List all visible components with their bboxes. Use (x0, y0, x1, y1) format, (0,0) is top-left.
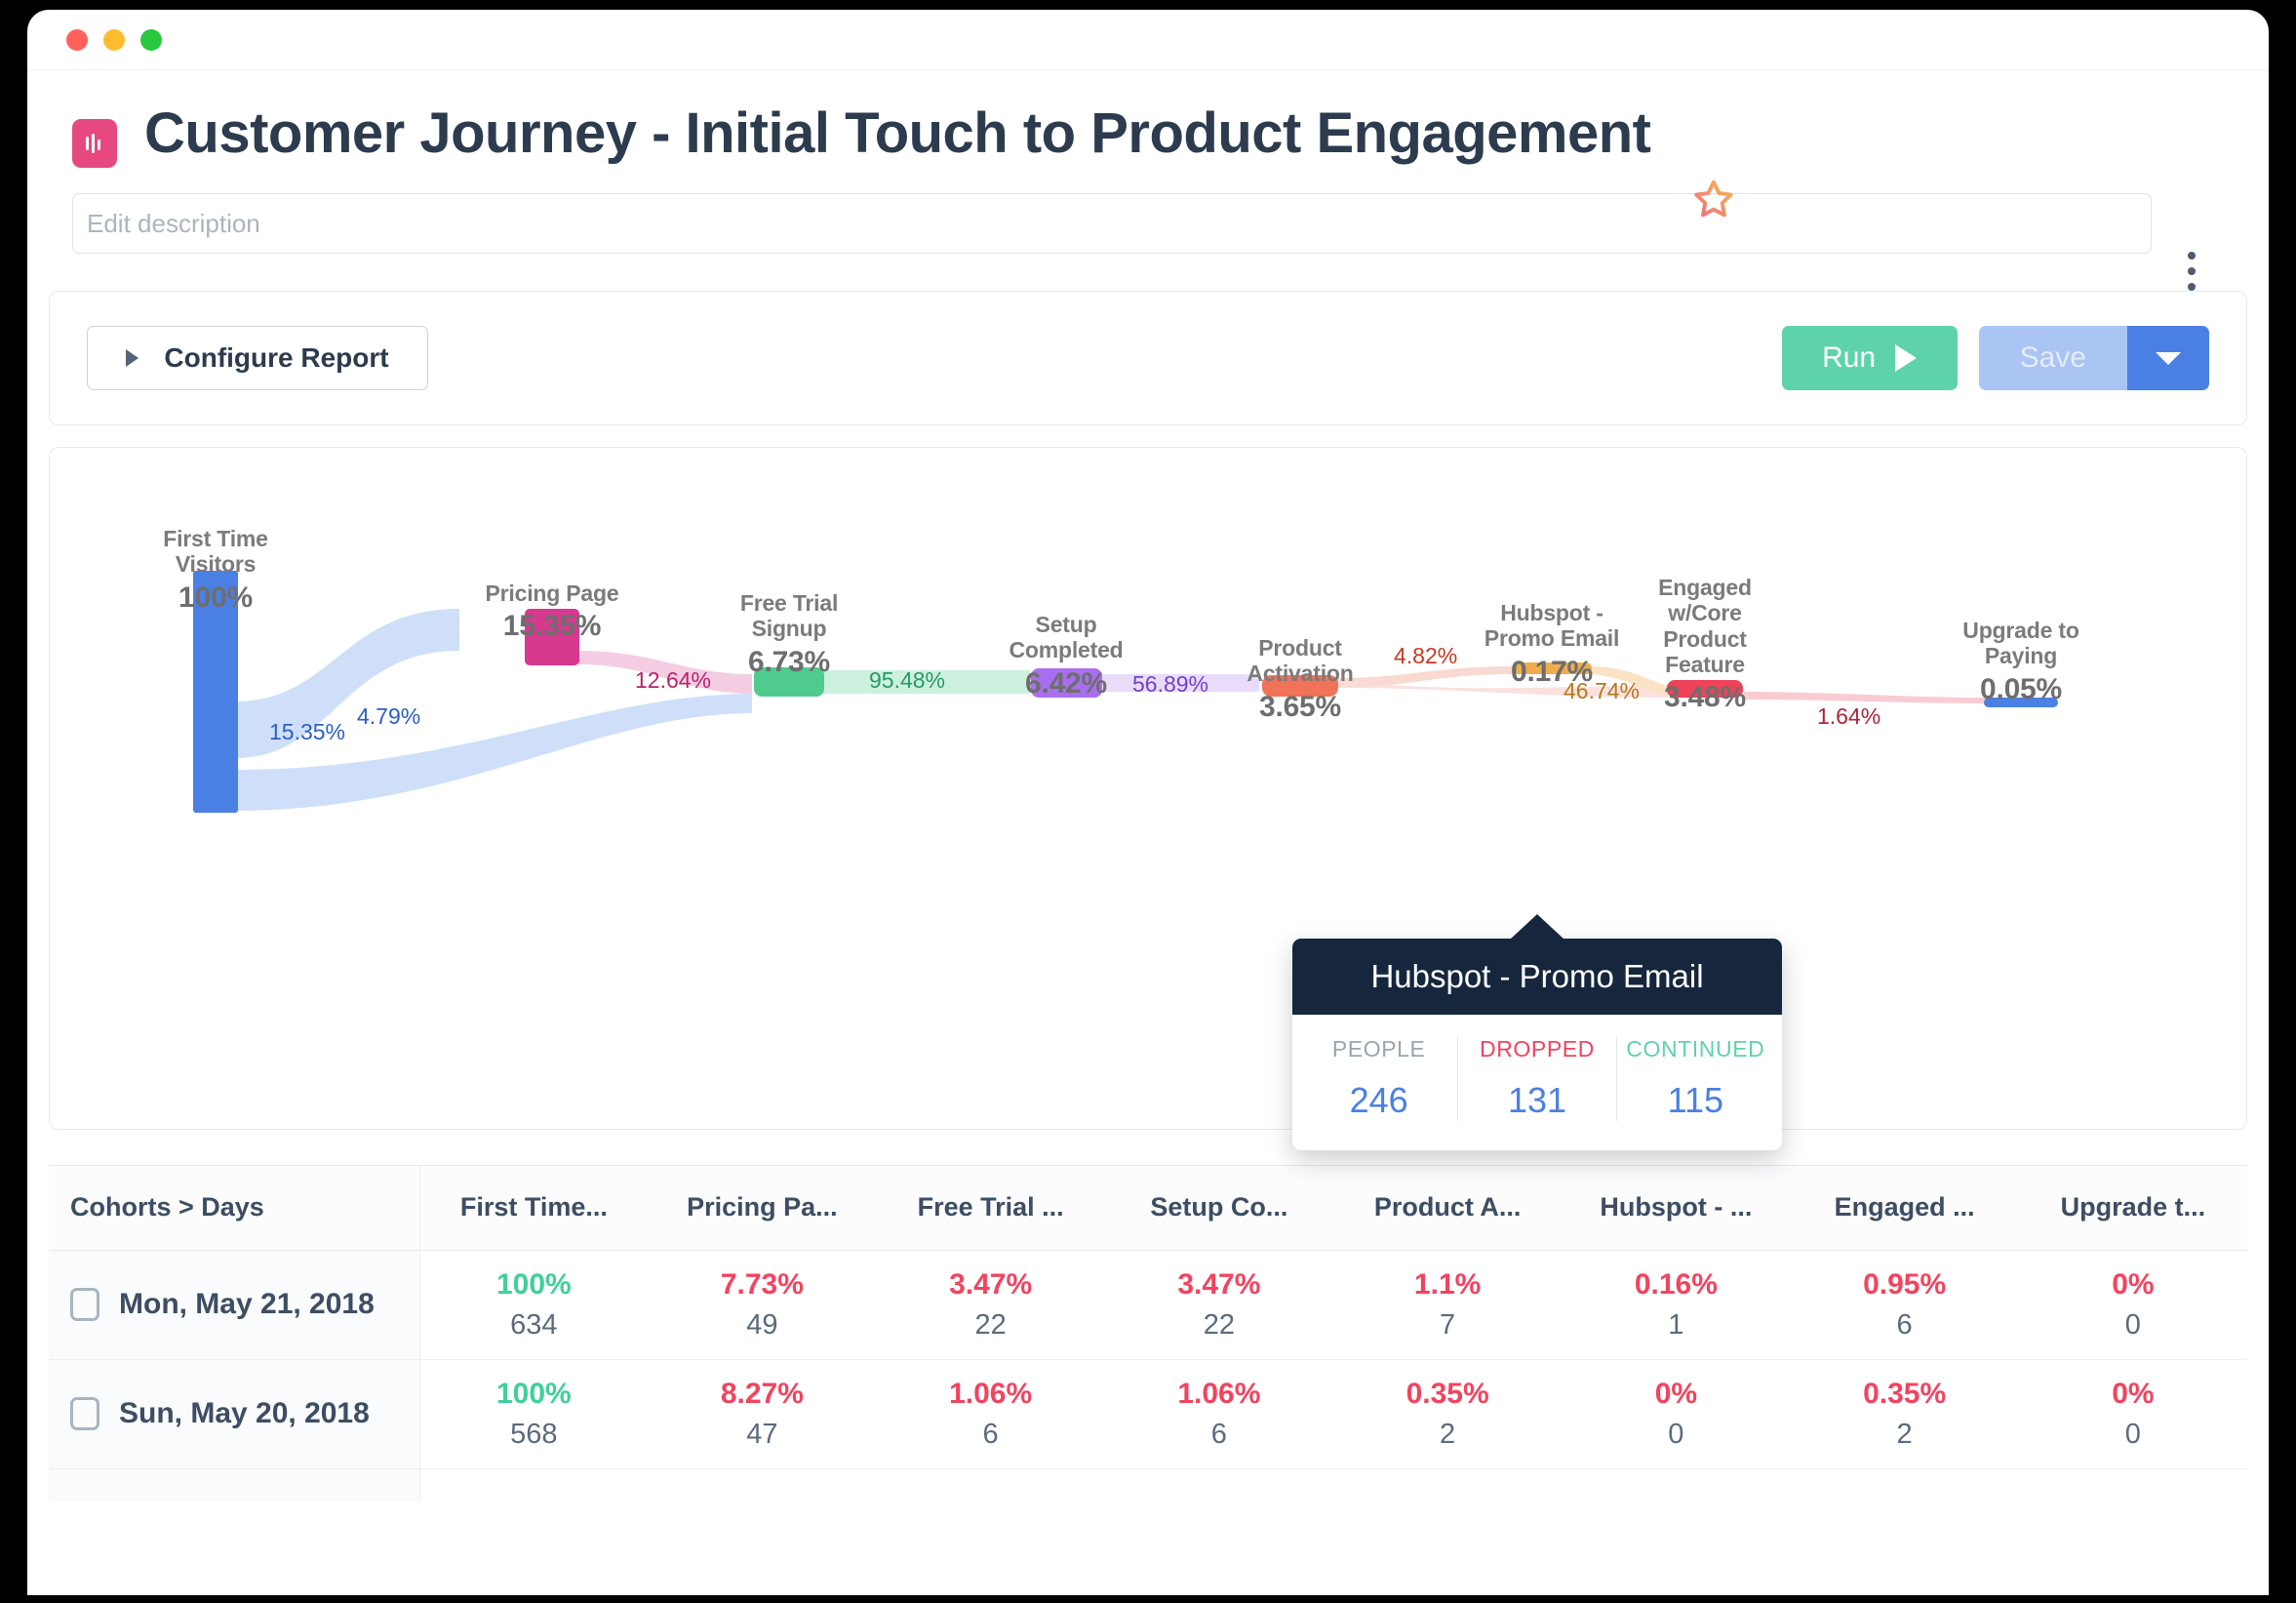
flow-label-visitors-to-pricing: 15.35% (269, 719, 345, 745)
flow-label-engaged-to-upgrade: 1.64% (1817, 703, 1880, 730)
report-toolbar: Configure Report Run Save (50, 292, 2246, 424)
run-label: Run (1822, 341, 1876, 375)
data-cell: 8.27% 47 (648, 1359, 876, 1468)
run-button[interactable]: Run (1782, 326, 1958, 390)
window-titlebar (27, 10, 2269, 70)
cohort-table: Cohorts > Days First Time... Pricing Pa.… (49, 1165, 2247, 1502)
column-header-setup-completed[interactable]: Setup Co... (1105, 1166, 1333, 1250)
cohort-cell[interactable] (49, 1468, 419, 1502)
data-cell: 1.1% 7 (1333, 1250, 1562, 1359)
funnel-tooltip: Hubspot - Promo Email PEOPLE 246 DROPPED… (1292, 939, 1782, 1150)
data-cell: 0.35% 2 (1333, 1359, 1562, 1468)
node-label-product-activation: Product Activation 3.65% (1232, 610, 1368, 749)
funnel-chart: First Time Visitors 100% Pricing Page 15… (50, 448, 2246, 1129)
page-title: Customer Journey - Initial Touch to Prod… (144, 103, 1651, 163)
flow-label-visitors-to-trial: 4.79% (357, 703, 420, 730)
tooltip-title: Hubspot - Promo Email (1292, 939, 1782, 1015)
node-label-first-time-visitors: First Time Visitors 100% (138, 501, 294, 640)
data-cell (648, 1468, 876, 1502)
close-window-button[interactable] (66, 29, 88, 51)
data-cell: 3.47% 22 (1105, 1250, 1333, 1359)
row-checkbox[interactable] (70, 1288, 99, 1321)
data-cell: 100% 634 (419, 1250, 648, 1359)
flow-label-trial-to-setup: 95.48% (869, 667, 945, 694)
configure-report-button[interactable]: Configure Report (87, 326, 428, 390)
save-button[interactable]: Save (1979, 326, 2127, 390)
toolbar-actions: Run Save (1782, 326, 2209, 390)
table-body: Mon, May 21, 2018 100% 634 7.73% 49 3.47… (49, 1250, 2247, 1502)
save-dropdown-button[interactable] (2127, 326, 2209, 390)
funnel-chart-card: First Time Visitors 100% Pricing Page 15… (49, 447, 2247, 1130)
data-cell: 0.35% 2 (1791, 1359, 2019, 1468)
node-label-setup-completed: Setup Completed 6.42% (998, 586, 1134, 726)
funnel-svg (50, 448, 2244, 1131)
column-header-first-time[interactable]: First Time... (419, 1166, 648, 1250)
row-checkbox[interactable] (70, 1397, 99, 1430)
tooltip-metric-people: PEOPLE 246 (1300, 1036, 1457, 1121)
data-cell (2019, 1468, 2247, 1502)
flow-label-hubspot-to-engaged: 46.74% (1564, 678, 1640, 704)
data-cell (877, 1468, 1105, 1502)
flow-label-activation-to-hubspot: 4.82% (1394, 643, 1457, 669)
node-label-free-trial-signup: Free Trial Signup 6.73% (721, 565, 857, 704)
data-cell: 3.47% 22 (877, 1250, 1105, 1359)
description-input[interactable] (72, 193, 2152, 254)
cohort-label: Mon, May 21, 2018 (119, 1288, 375, 1321)
node-label-upgrade-to-paying: Upgrade to Paying 0.05% (1948, 592, 2094, 732)
data-cell: 0% 0 (2019, 1250, 2247, 1359)
kebab-menu-icon[interactable] (2175, 248, 2208, 295)
column-header-product-activation[interactable]: Product A... (1333, 1166, 1562, 1250)
data-cell (1791, 1468, 2019, 1502)
data-cell: 1.06% 6 (1105, 1359, 1333, 1468)
flow-label-pricing-to-trial: 12.64% (635, 667, 711, 694)
tooltip-metric-continued: CONTINUED 115 (1616, 1036, 1774, 1121)
cohort-cell[interactable]: Sun, May 20, 2018 (49, 1359, 419, 1468)
table-row[interactable]: Mon, May 21, 2018 100% 634 7.73% 49 3.47… (49, 1250, 2247, 1359)
data-cell: 0% 0 (2019, 1359, 2247, 1468)
table-header-row: Cohorts > Days First Time... Pricing Pa.… (49, 1166, 2247, 1250)
table-row[interactable]: Sun, May 20, 2018 100% 568 8.27% 47 1.06… (49, 1359, 2247, 1468)
node-label-pricing-page: Pricing Page 15.35% (459, 555, 645, 669)
data-cell: 0.16% 1 (1562, 1250, 1790, 1359)
column-header-engaged[interactable]: Engaged ... (1791, 1166, 2019, 1250)
column-header-upgrade[interactable]: Upgrade t... (2019, 1166, 2247, 1250)
column-header-free-trial[interactable]: Free Trial ... (877, 1166, 1105, 1250)
triangle-right-icon (126, 349, 139, 367)
page-header: Customer Journey - Initial Touch to Prod… (27, 70, 2269, 254)
data-cell (1562, 1468, 1790, 1502)
report-toolbar-card: Configure Report Run Save (49, 291, 2247, 425)
star-icon[interactable] (1688, 175, 1739, 225)
tooltip-metrics: PEOPLE 246 DROPPED 131 CONTINUED 115 (1292, 1015, 1782, 1150)
data-cell: 7.73% 49 (648, 1250, 876, 1359)
play-icon (1895, 344, 1917, 372)
column-header-hubspot[interactable]: Hubspot - ... (1562, 1166, 1790, 1250)
data-cell (419, 1468, 648, 1502)
data-cell: 100% 568 (419, 1359, 648, 1468)
maximize-window-button[interactable] (140, 29, 162, 51)
data-cell (1333, 1468, 1562, 1502)
configure-report-label: Configure Report (164, 342, 388, 374)
data-cell: 0.95% 6 (1791, 1250, 2019, 1359)
data-cell: 1.06% 6 (877, 1359, 1105, 1468)
app-window: Customer Journey - Initial Touch to Prod… (27, 10, 2269, 1595)
flow-label-setup-to-activation: 56.89% (1132, 671, 1208, 698)
chevron-down-icon (2156, 352, 2181, 365)
column-header-cohorts[interactable]: Cohorts > Days (49, 1166, 419, 1250)
tooltip-arrow-icon (1510, 914, 1564, 940)
cohort-label: Sun, May 20, 2018 (119, 1397, 370, 1430)
table-row-partial[interactable] (49, 1468, 2247, 1502)
data-cell (1105, 1468, 1333, 1502)
column-header-pricing-page[interactable]: Pricing Pa... (648, 1166, 876, 1250)
minimize-window-button[interactable] (103, 29, 125, 51)
cohort-cell[interactable]: Mon, May 21, 2018 (49, 1250, 419, 1359)
data-cell: 0% 0 (1562, 1359, 1790, 1468)
tooltip-metric-dropped: DROPPED 131 (1457, 1036, 1615, 1121)
node-label-engaged-core-feature: Engaged w/Core Product Feature 3.48% (1632, 549, 1778, 741)
save-button-group: Save (1979, 326, 2209, 390)
bar-chart-icon (72, 119, 117, 168)
